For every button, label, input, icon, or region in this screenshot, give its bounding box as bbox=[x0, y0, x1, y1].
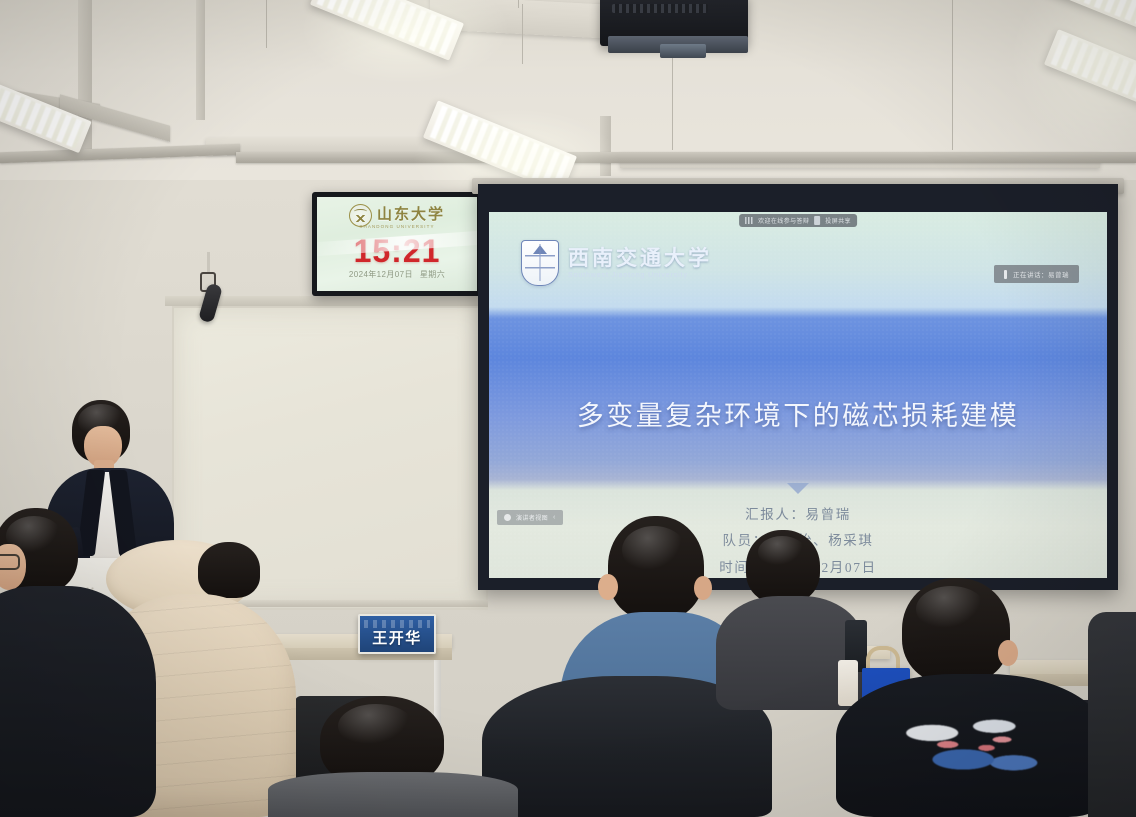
person-left-blazer bbox=[0, 508, 158, 817]
blue-shirt-ear-left bbox=[598, 574, 618, 600]
water-bottle bbox=[838, 660, 858, 706]
stream-toolbar-item-2[interactable]: 投屏共享 bbox=[825, 216, 851, 225]
digital-clock-display: 山东大学 SHANDONG UNIVERSITY 15:21 2024年12月0… bbox=[312, 192, 482, 296]
shield-icon bbox=[521, 240, 559, 286]
shield-grid-icon bbox=[525, 244, 555, 281]
projector-lens bbox=[660, 44, 706, 58]
slide-title: 多变量复杂环境下的磁芯损耗建模 bbox=[489, 394, 1107, 433]
ceiling-rail-main bbox=[236, 152, 1136, 163]
slide-logo-en: Southwest Jiaotong University bbox=[568, 272, 712, 279]
slide-logo-text: 西南交通大学 Southwest Jiaotong University bbox=[568, 247, 712, 278]
placard-decor-strip bbox=[364, 620, 430, 628]
lecture-hall-photo: 山东大学 SHANDONG UNIVERSITY 15:21 2024年12月0… bbox=[0, 0, 1136, 817]
person-right-edge bbox=[1088, 612, 1136, 817]
clock-date-row: 2024年12月07日 星期六 bbox=[317, 269, 477, 280]
microphone-cable bbox=[207, 252, 210, 274]
blue-shirt-ear-right bbox=[694, 576, 712, 600]
floral-jacket-ear bbox=[998, 640, 1018, 666]
lamp-wire-2 bbox=[518, 0, 519, 8]
floral-print-graphic bbox=[874, 708, 1068, 791]
clock-time: 15:21 bbox=[317, 235, 477, 267]
stream-toolbar-item-1[interactable]: 欢迎在线参与答辩 bbox=[758, 216, 809, 225]
person-floral-jacket bbox=[856, 578, 1106, 817]
presenter-view-chip[interactable]: 演讲者视图 ‹ bbox=[497, 510, 563, 525]
clock-date: 2024年12月07日 bbox=[349, 269, 413, 280]
stream-icon bbox=[745, 217, 753, 224]
stream-toolbar[interactable]: 欢迎在线参与答辩 投屏共享 bbox=[739, 214, 857, 227]
ceiling-beam-vertical-3 bbox=[600, 116, 611, 176]
glasses-icon bbox=[0, 554, 20, 570]
front-gray-body bbox=[268, 772, 518, 817]
slide-ribbon-notch-icon bbox=[787, 483, 809, 494]
ceiling-beam-vertical-2 bbox=[196, 0, 205, 120]
slide-university-logo: 西南交通大学 Southwest Jiaotong University bbox=[521, 240, 712, 286]
speaking-indicator-label: 正在讲话：易曾瑞 bbox=[1013, 269, 1069, 279]
projector-vent bbox=[612, 4, 708, 13]
slide-logo-cn: 西南交通大学 bbox=[568, 247, 712, 269]
clock-university-name-en: SHANDONG UNIVERSITY bbox=[317, 224, 477, 229]
right-edge-body bbox=[1088, 612, 1136, 817]
gray-blazer-hair-sheen bbox=[758, 536, 806, 568]
left-blazer-body bbox=[0, 586, 156, 817]
floral-jacket-body bbox=[836, 674, 1106, 817]
blue-shirt-hair-sheen bbox=[622, 526, 686, 574]
name-placard: 王开华 bbox=[358, 614, 436, 654]
presenter-view-label: 演讲者视图 bbox=[516, 513, 548, 522]
front-gray-hair-sheen bbox=[338, 704, 414, 748]
lamp-wire-1 bbox=[266, 0, 267, 48]
floral-jacket-hair-sheen bbox=[916, 586, 986, 632]
microphone-icon bbox=[1004, 270, 1007, 279]
chevron-left-icon[interactable]: ‹ bbox=[553, 514, 556, 521]
person-front-gray bbox=[268, 696, 518, 817]
lamp-wire-5 bbox=[952, 0, 953, 150]
phone-icon bbox=[814, 216, 820, 225]
clock-university-name: 山东大学 bbox=[377, 208, 445, 223]
clock-weekday: 星期六 bbox=[420, 269, 445, 280]
lamp-wire-3 bbox=[522, 4, 523, 64]
record-dot-icon bbox=[504, 514, 511, 521]
speaking-indicator-overlay[interactable]: 正在讲话：易曾瑞 bbox=[994, 265, 1079, 283]
clock-screen: 山东大学 SHANDONG UNIVERSITY 15:21 2024年12月0… bbox=[317, 197, 477, 291]
placard-name: 王开华 bbox=[372, 627, 422, 648]
puffer-person-hair bbox=[198, 542, 260, 598]
